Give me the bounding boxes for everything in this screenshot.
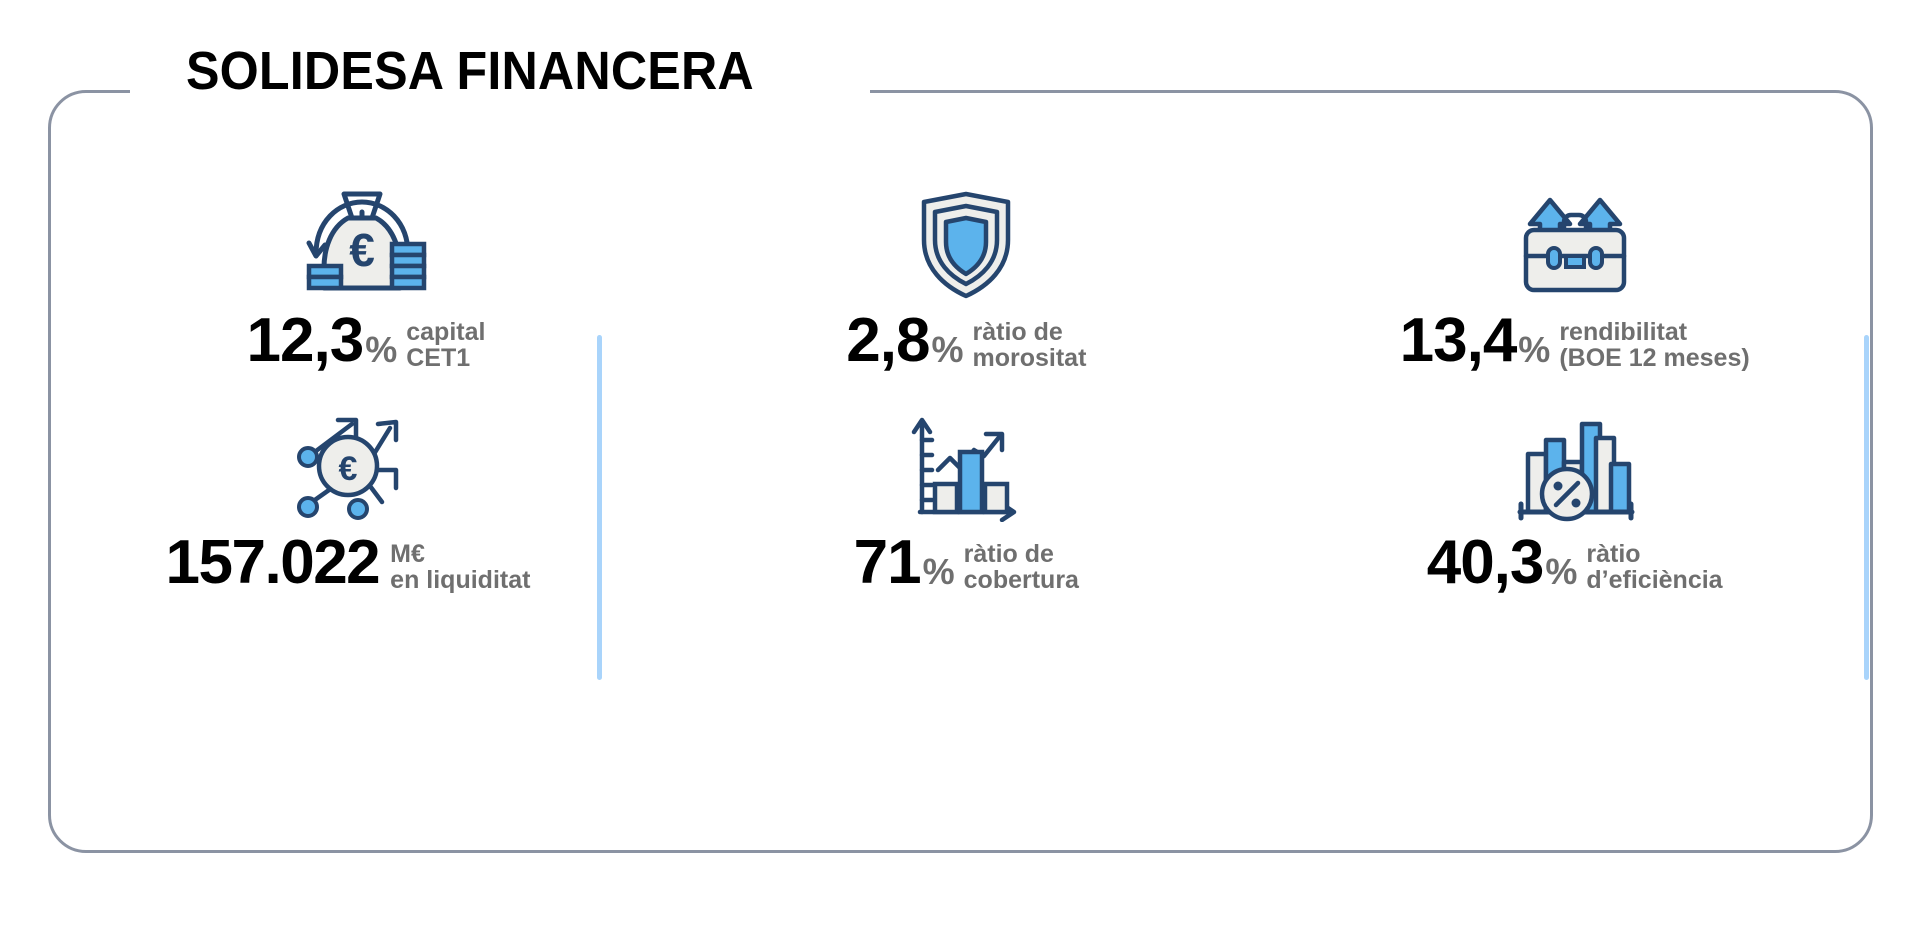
svg-text:€: € (338, 450, 357, 488)
metric-label-line2: morositat (972, 345, 1086, 371)
metric-unit: % (365, 332, 397, 368)
metric-label: rendibilitat (BOE 12 meses) (1559, 319, 1749, 371)
metric-readout: 12,3 % capital CET1 (247, 314, 486, 369)
metric-liquiditat: € 157.022 M€ en liquiditat (68, 410, 628, 591)
metric-value: 13,4 (1400, 314, 1517, 369)
metric-label-line2: cobertura (964, 567, 1079, 593)
metric-unit: % (931, 332, 963, 368)
shield-icon (904, 188, 1029, 300)
metric-eficiencia: 40,3 % ràtio d’eficiència (1295, 410, 1855, 591)
metric-rendibilitat: 13,4 % rendibilitat (BOE 12 meses) (1295, 188, 1855, 369)
metric-label-line1: rendibilitat (1559, 318, 1687, 346)
metric-readout: 71 % ràtio de cobertura (854, 536, 1079, 591)
metric-readout: 13,4 % rendibilitat (BOE 12 meses) (1400, 314, 1750, 369)
metric-value: 2,8 (846, 314, 929, 369)
metric-value: 12,3 (247, 314, 364, 369)
metric-label-line1: capital (406, 318, 485, 346)
metric-morositat: 2,8 % ràtio de morositat (706, 188, 1226, 369)
metric-value: 71 (854, 536, 921, 591)
column-capital-liquidity: € 12,3 % (48, 90, 656, 853)
metric-label: M€ en liquiditat (390, 541, 530, 593)
metric-value: 40,3 (1427, 536, 1544, 591)
metric-label: ràtio de cobertura (964, 541, 1079, 593)
column-risk-coverage: 2,8 % ràtio de morositat (656, 90, 1264, 853)
metric-unit: % (1545, 554, 1577, 590)
metric-label-line2: CET1 (406, 345, 485, 371)
metric-readout: 157.022 M€ en liquiditat (166, 536, 531, 591)
metric-label: ràtio de morositat (972, 319, 1086, 371)
column-divider-1 (597, 335, 602, 680)
metric-value: 157.022 (166, 536, 380, 591)
metric-capital-cet1: € 12,3 % (106, 188, 626, 369)
metric-label-line1: M€ (390, 540, 425, 568)
briefcase-arrows-up-icon (1512, 188, 1637, 300)
metric-label: capital CET1 (406, 319, 485, 371)
svg-text:€: € (349, 224, 375, 276)
metric-label-line2: d’eficiència (1586, 567, 1722, 593)
metric-unit: % (1518, 332, 1550, 368)
metric-readout: 40,3 % ràtio d’eficiència (1427, 536, 1723, 591)
money-bag-euro-icon: € (304, 188, 429, 300)
metric-label-line1: ràtio de (972, 318, 1062, 346)
bar-chart-percent-icon (1512, 410, 1637, 522)
metrics-grid: € 12,3 % (48, 90, 1873, 853)
column-profitability-efficiency: 13,4 % rendibilitat (BOE 12 meses) (1265, 90, 1873, 853)
euro-network-liquidity-icon: € (286, 410, 411, 522)
metric-unit: % (923, 554, 955, 590)
metric-label: ràtio d’eficiència (1586, 541, 1722, 593)
bar-chart-trend-icon (904, 410, 1029, 522)
metric-label-line1: ràtio de (964, 540, 1054, 568)
metric-label-line2: en liquiditat (390, 567, 530, 593)
metric-cobertura: 71 % ràtio de cobertura (706, 410, 1226, 591)
metric-label-line1: ràtio (1586, 540, 1640, 568)
metric-label-line2: (BOE 12 meses) (1559, 345, 1749, 371)
metric-readout: 2,8 % ràtio de morositat (846, 314, 1086, 369)
